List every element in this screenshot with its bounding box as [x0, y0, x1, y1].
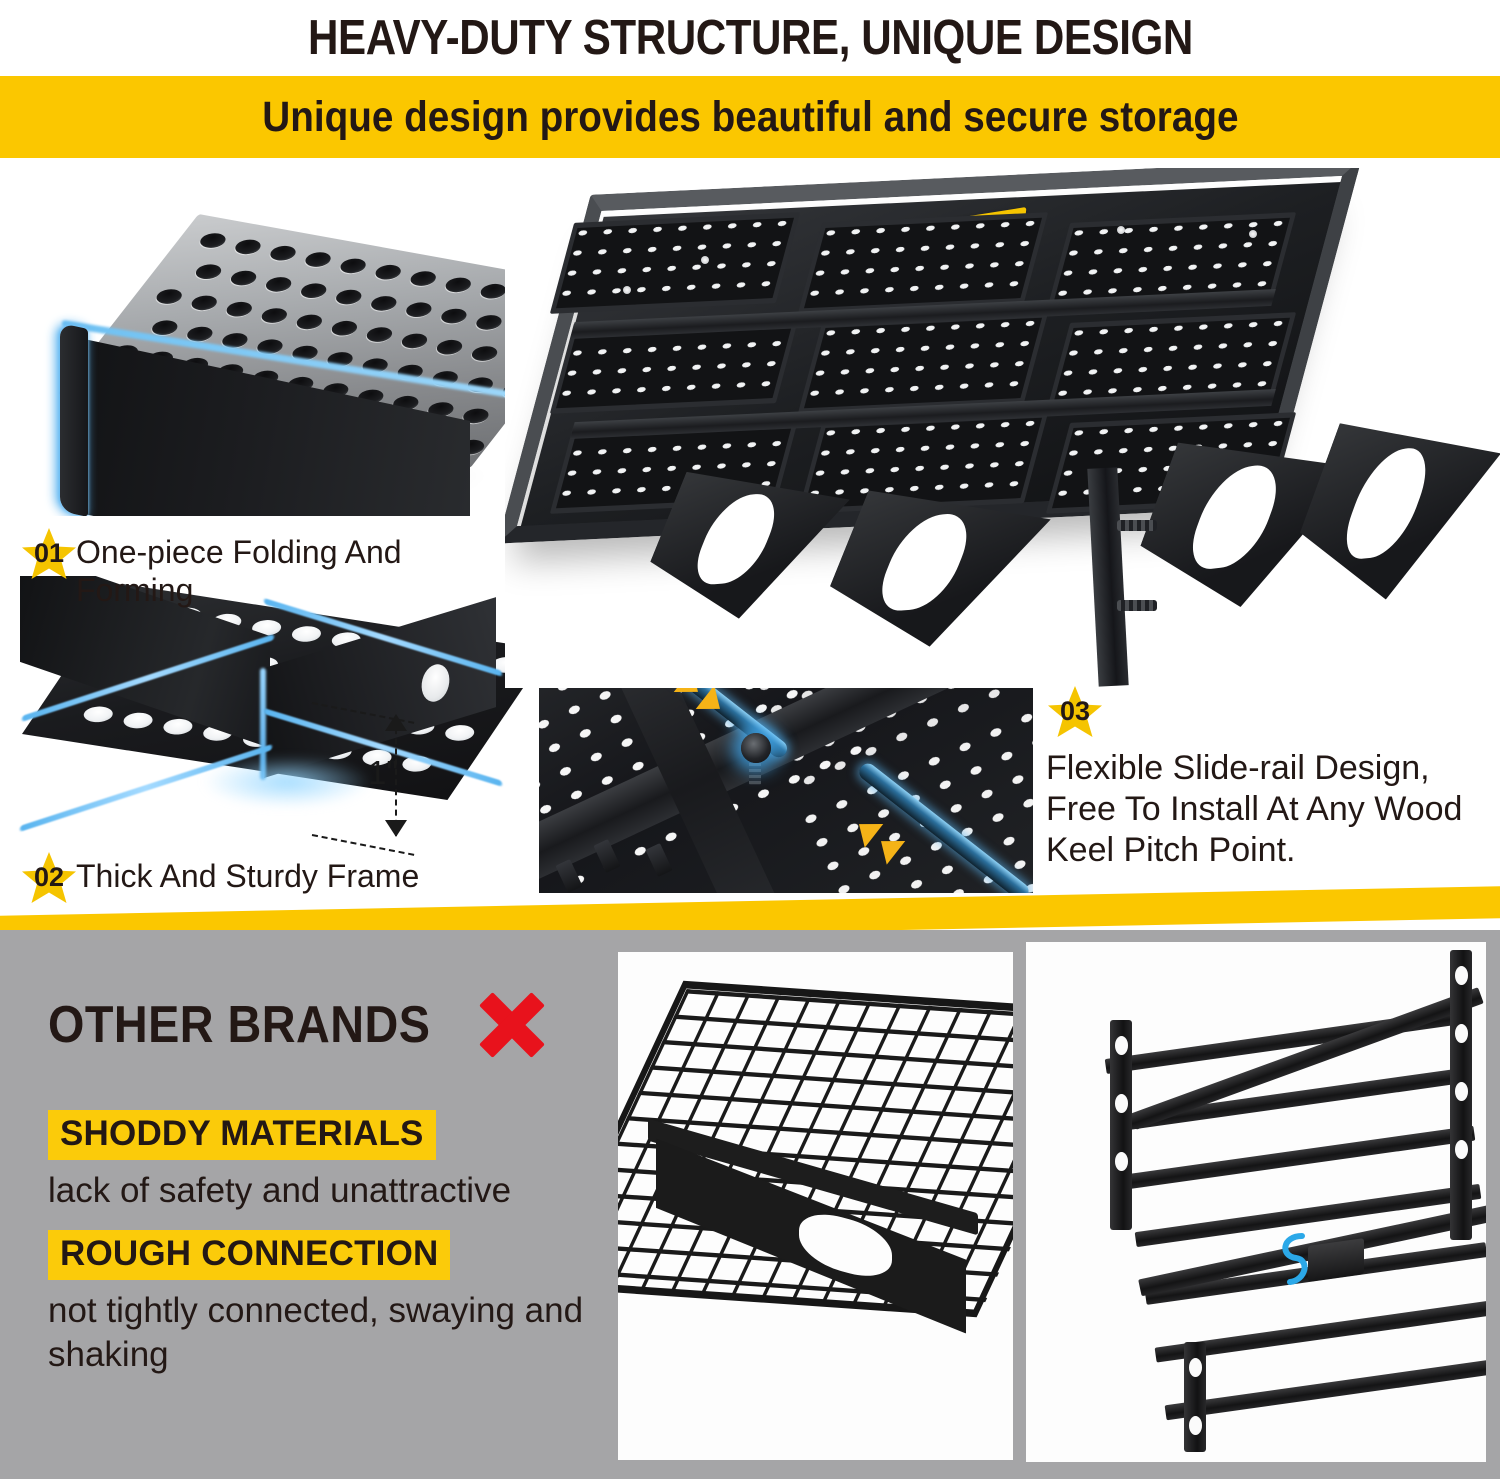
perforation-hole: [332, 288, 366, 306]
mounting-hole: [1189, 1416, 1202, 1435]
mounting-hole: [1455, 1140, 1468, 1159]
perforation-hole: [222, 300, 256, 318]
callout-label: One-piece Folding And Forming: [76, 526, 520, 610]
frame-shelf-rail: [1165, 1359, 1486, 1421]
photo-competitor-wire-shelf: [618, 952, 1013, 1460]
page-subtitle: Unique design provides beautiful and sec…: [262, 93, 1238, 142]
photo-hero-rack: AECXM: [505, 168, 1500, 688]
perforation-hole: [297, 282, 331, 300]
rack-perforated-cell: [550, 212, 800, 314]
perforation-hole: [402, 301, 436, 319]
other-brands-heading: OTHER BRANDS: [48, 988, 549, 1062]
wall-anchor-bolt: [1117, 600, 1157, 611]
clip-highlight-icon: [1272, 1230, 1312, 1292]
perforation-hole: [119, 711, 156, 730]
perforation-hole: [433, 338, 467, 356]
perforation-hole: [292, 313, 326, 331]
rack-perforated-cell: [798, 312, 1048, 414]
drawback-tag: ROUGH CONNECTION: [48, 1230, 450, 1280]
hero-rack-assembly: AECXM: [505, 168, 1500, 688]
mounting-hole: [1115, 1094, 1128, 1113]
callout-number: 03: [1060, 698, 1090, 728]
perforation-hole: [406, 269, 440, 287]
callout-number: 01: [34, 540, 64, 570]
perforation-hole: [472, 313, 506, 331]
drawback-item: ROUGH CONNECTION not tightly connected, …: [48, 1230, 588, 1377]
mounting-hole: [1455, 966, 1468, 985]
rack-perforated-cell: [798, 212, 1048, 314]
page-title: HEAVY-DUTY STRUCTURE, UNIQUE DESIGN: [308, 10, 1193, 66]
perforation-hole: [231, 238, 265, 256]
mounting-hole: [1115, 1152, 1128, 1171]
drawback-body: not tightly connected, swaying and shaki…: [48, 1289, 588, 1377]
star-icon: 01: [20, 526, 78, 584]
perforation-hole: [152, 287, 186, 305]
perforation-hole: [336, 257, 370, 275]
mounting-screw-hole: [623, 286, 631, 294]
perforation-hole: [266, 244, 300, 262]
cross-icon: [475, 988, 549, 1062]
mounting-hole: [1455, 1082, 1468, 1101]
callout-label: Flexible Slide-rail Design, Free To Inst…: [1046, 742, 1490, 870]
callout-feature-03: 03 Flexible Slide-rail Design, Free To I…: [1046, 684, 1490, 870]
perforation-hole: [80, 705, 117, 724]
perforation-hole: [328, 319, 362, 337]
drawback-body: lack of safety and unattractive: [48, 1169, 511, 1213]
perforation-hole: [192, 263, 226, 281]
dimension-annotation: 1": [312, 696, 452, 856]
header-title-band: HEAVY-DUTY STRUCTURE, UNIQUE DESIGN: [0, 0, 1500, 76]
other-brands-title: OTHER BRANDS: [48, 995, 430, 1055]
mounting-screw-hole: [1249, 230, 1257, 238]
perforation-hole: [288, 624, 325, 643]
mounting-hole: [1455, 1024, 1468, 1043]
callout-feature-01: 01 One-piece Folding And Forming: [20, 526, 520, 610]
photo-thick-sturdy-frame: 1": [12, 576, 532, 866]
perforation-hole: [227, 269, 261, 287]
photo-one-piece-folding: [12, 196, 532, 516]
arrow-up-icon: [385, 714, 407, 731]
perforation-hole: [257, 306, 291, 324]
perforation-hole: [367, 294, 401, 312]
perforation-hole: [437, 307, 471, 325]
perforation-hole: [441, 276, 475, 294]
features-section: 1": [0, 158, 1500, 920]
perforation-hole: [187, 294, 221, 312]
channel-folded-lip: [60, 323, 88, 516]
mounting-hole: [1189, 1358, 1202, 1377]
drawback-tag: SHODDY MATERIALS: [48, 1110, 436, 1160]
mounting-screw-hole: [1117, 226, 1125, 234]
wall-anchor-bolt: [1117, 520, 1157, 531]
drawback-item: SHODDY MATERIALS lack of safety and unat…: [48, 1110, 511, 1213]
star-icon: 03: [1046, 684, 1104, 742]
perforation-hole: [196, 231, 230, 249]
perforation-hole: [262, 275, 296, 293]
mounting-screw-hole: [701, 256, 709, 264]
other-brands-section: OTHER BRANDS SHODDY MATERIALS lack of sa…: [0, 930, 1500, 1479]
infographic-page: HEAVY-DUTY STRUCTURE, UNIQUE DESIGN Uniq…: [0, 0, 1500, 1479]
perforation-hole: [371, 263, 405, 281]
mounting-hole: [1115, 1036, 1128, 1055]
perforation-hole: [468, 345, 502, 363]
perforation-hole: [398, 332, 432, 350]
perforation-hole: [301, 250, 335, 268]
dimension-value: 1": [368, 754, 398, 792]
photo-competitor-bracket-frame: [1026, 942, 1486, 1462]
perforation-hole: [363, 325, 397, 343]
frame-shelf-rail: [1125, 1126, 1476, 1190]
arrow-down-icon: [385, 820, 407, 837]
header-subtitle-band: Unique design provides beautiful and sec…: [0, 76, 1500, 158]
bolt-head: [741, 733, 771, 763]
